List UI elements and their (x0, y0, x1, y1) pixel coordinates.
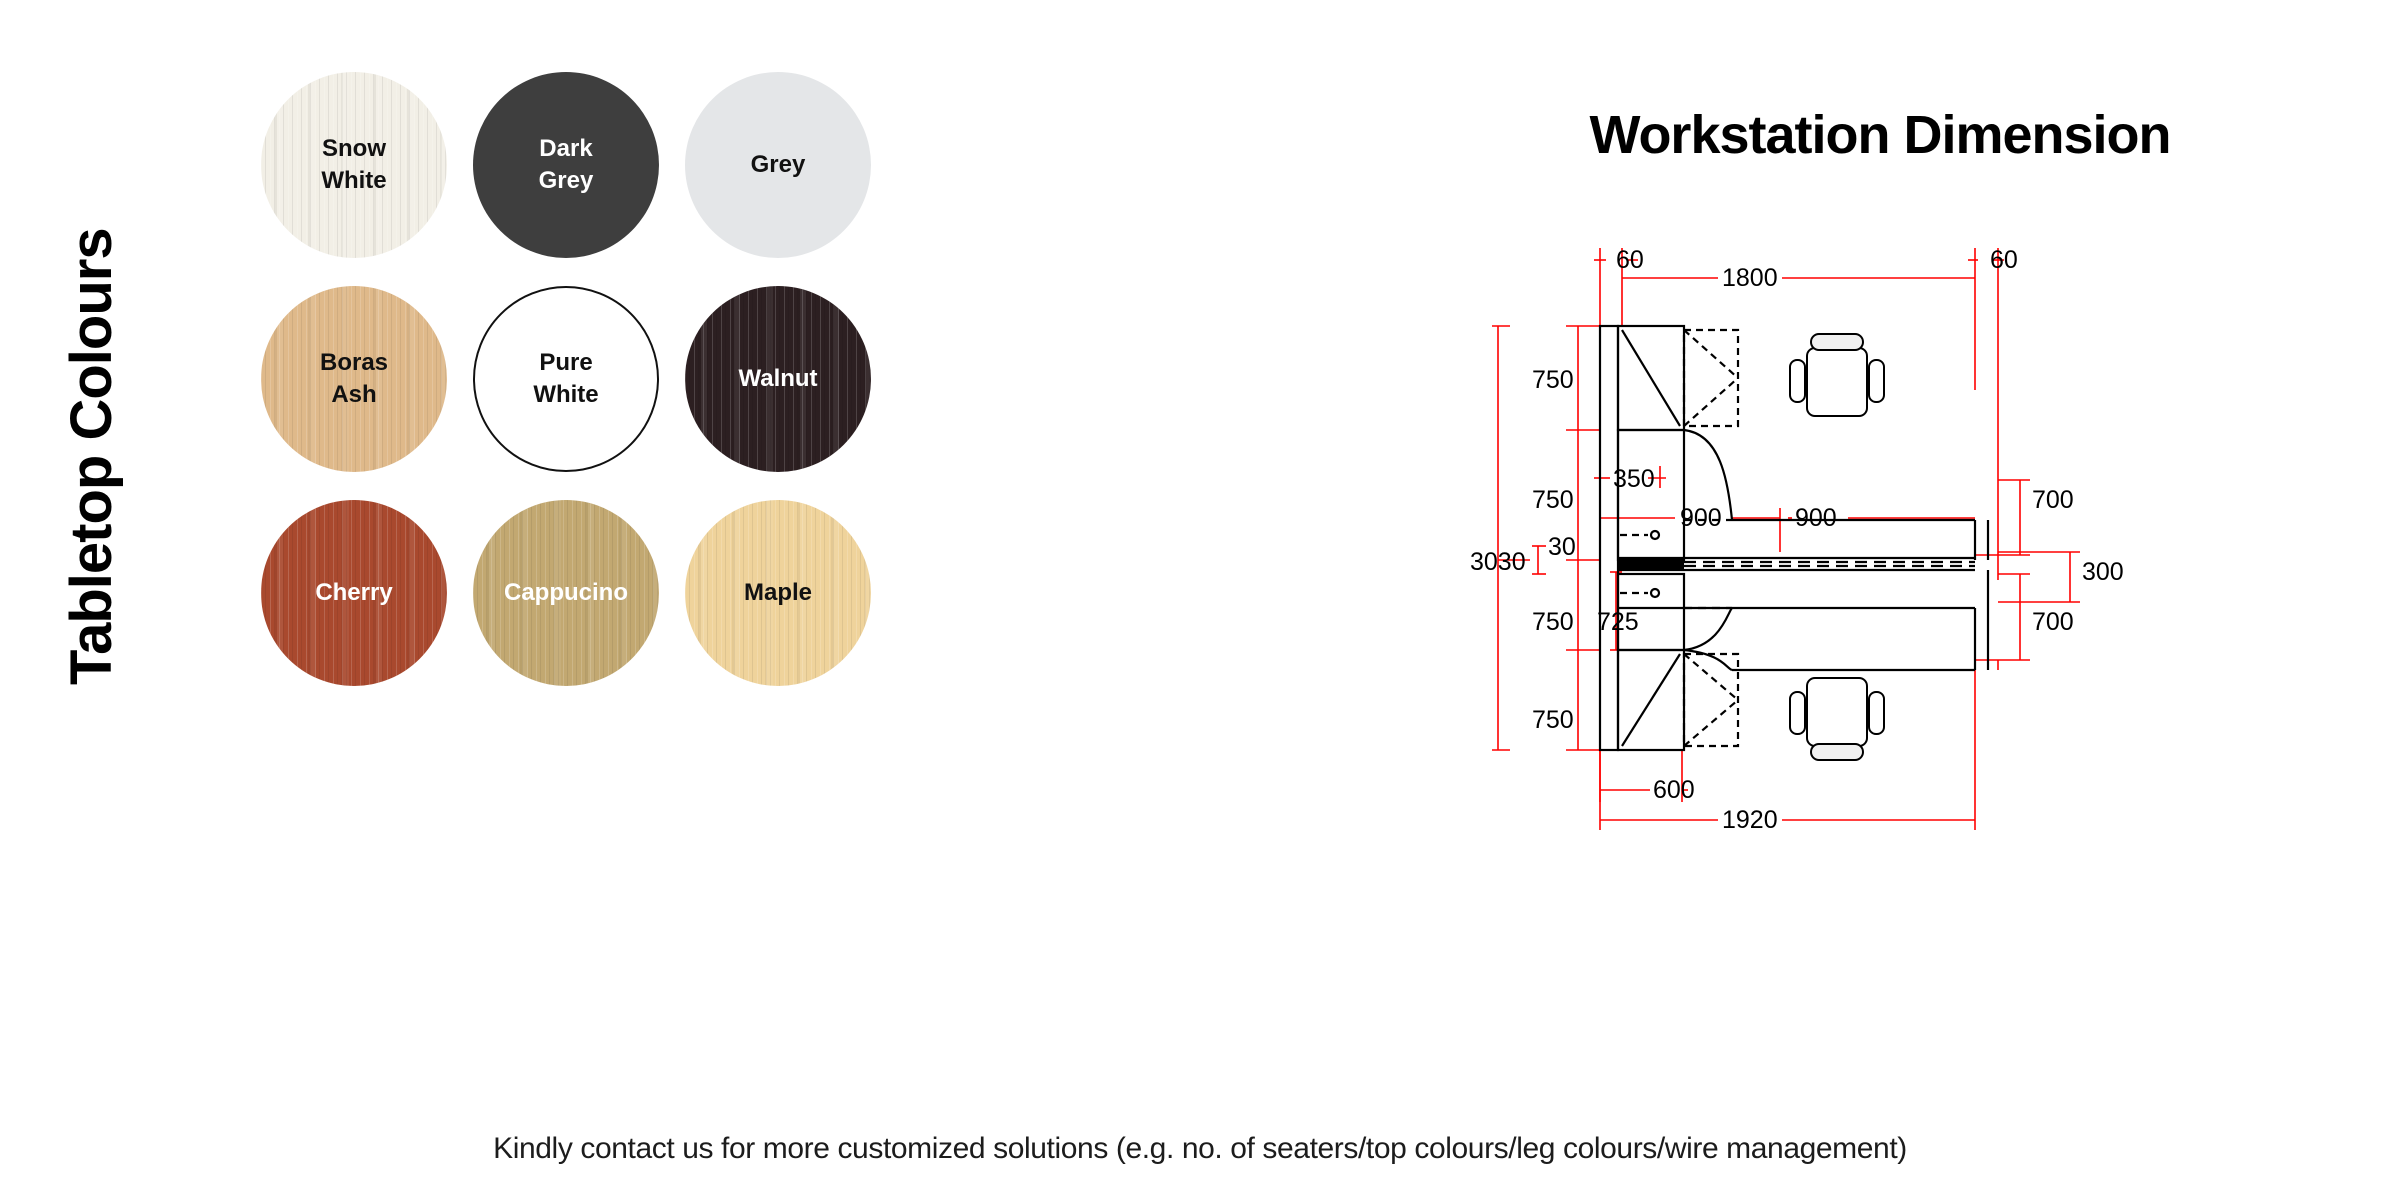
dim-label-725: 725 (1597, 608, 1639, 636)
chair-icon-upper (1790, 334, 1884, 416)
dim-label-3030: 3030 (1470, 548, 1526, 576)
swatch-cherry[interactable]: Cherry (261, 500, 447, 686)
swatch-cell-walnut[interactable]: Walnut (672, 286, 884, 472)
tabletop-colours-title: Tabletop Colours (47, 265, 137, 685)
swatch-cell-boras-ash[interactable]: Boras Ash (248, 286, 460, 472)
dim-label-1800: 1800 (1722, 264, 1778, 292)
dimension-lines (1492, 248, 2080, 830)
tabletop-colours-panel: Tabletop Colours Snow White Dark Grey (0, 0, 1360, 1100)
swatch-cappucino[interactable]: Cappucino (473, 500, 659, 686)
dim-label-1920: 1920 (1722, 806, 1778, 834)
swatch-label-maple: Maple (740, 577, 816, 609)
dim-label-300: 300 (2082, 558, 2124, 586)
dim-label-750-4: 750 (1532, 706, 1574, 734)
swatch-label-cherry: Cherry (311, 577, 396, 609)
swatch-label-line2: White (321, 167, 386, 194)
dim-label-700-upper: 700 (2032, 486, 2074, 514)
workstation-dimension-panel: Workstation Dimension (1360, 0, 2400, 1100)
dim-label-750-2: 750 (1532, 486, 1574, 514)
workstation-drawing: 60 1800 60 750 750 350 30 3030 900 900 7… (1470, 230, 2390, 760)
swatch-maple[interactable]: Maple (685, 500, 871, 686)
swatch-cell-maple[interactable]: Maple (672, 500, 884, 686)
swatch-pure-white[interactable]: Pure White (473, 286, 659, 472)
swatch-cell-grey[interactable]: Grey (672, 72, 884, 258)
swatch-dark-grey[interactable]: Dark Grey (473, 72, 659, 258)
swatch-label-line1: Cherry (315, 579, 392, 606)
dim-label-60-right: 60 (1990, 246, 2018, 274)
dim-label-700-lower: 700 (2032, 608, 2074, 636)
swatch-label-line1: Pure (539, 349, 592, 376)
swatch-label-line1: Dark (539, 135, 592, 162)
dim-label-600: 600 (1653, 776, 1695, 804)
swatch-label-snow-white: Snow White (317, 133, 390, 197)
swatch-label-cappucino: Cappucino (500, 577, 632, 609)
workstation-dimension-title: Workstation Dimension (1360, 104, 2400, 166)
dim-label-750-1: 750 (1532, 366, 1574, 394)
chair-icon-lower (1790, 678, 1884, 760)
swatch-cell-dark-grey[interactable]: Dark Grey (460, 72, 672, 258)
swatch-boras-ash[interactable]: Boras Ash (261, 286, 447, 472)
footer-note: Kindly contact us for more customized so… (0, 1132, 2400, 1166)
dim-label-900-b: 900 (1795, 504, 1837, 532)
dim-label-60-left: 60 (1616, 246, 1644, 274)
swatch-label-line1: Boras (320, 349, 388, 376)
swatch-label-line1: Snow (322, 135, 386, 162)
swatch-walnut[interactable]: Walnut (685, 286, 871, 472)
swatch-label-line1: Cappucino (504, 579, 628, 606)
dim-label-900-a: 900 (1680, 504, 1722, 532)
swatch-grey[interactable]: Grey (685, 72, 871, 258)
swatch-label-line1: Maple (744, 579, 812, 606)
swatch-label-walnut: Walnut (734, 363, 821, 395)
swatch-cell-pure-white[interactable]: Pure White (460, 286, 672, 472)
dim-label-350: 350 (1613, 465, 1655, 493)
swatch-cell-cappucino[interactable]: Cappucino (460, 500, 672, 686)
swatch-label-line2: Ash (331, 381, 376, 408)
swatch-cell-cherry[interactable]: Cherry (248, 500, 460, 686)
dim-label-30: 30 (1548, 533, 1576, 561)
swatch-label-pure-white: Pure White (529, 347, 602, 411)
dim-label-750-3: 750 (1532, 608, 1574, 636)
swatch-label-grey: Grey (747, 149, 810, 181)
swatch-label-line1: Grey (751, 151, 806, 178)
swatch-label-dark-grey: Dark Grey (535, 133, 598, 197)
swatch-label-line1: Walnut (738, 365, 817, 392)
swatch-label-line2: Grey (539, 167, 594, 194)
swatch-label-boras-ash: Boras Ash (316, 347, 392, 411)
swatch-cell-snow-white[interactable]: Snow White (248, 72, 460, 258)
swatch-label-line2: White (533, 381, 598, 408)
swatch-snow-white[interactable]: Snow White (261, 72, 447, 258)
colour-swatch-grid: Snow White Dark Grey Grey (248, 72, 884, 686)
dimension-text-group: 60 1800 60 750 750 350 30 3030 900 900 7… (1470, 246, 2124, 834)
workstation-floorplan-svg: 60 1800 60 750 750 350 30 3030 900 900 7… (1470, 230, 2170, 850)
